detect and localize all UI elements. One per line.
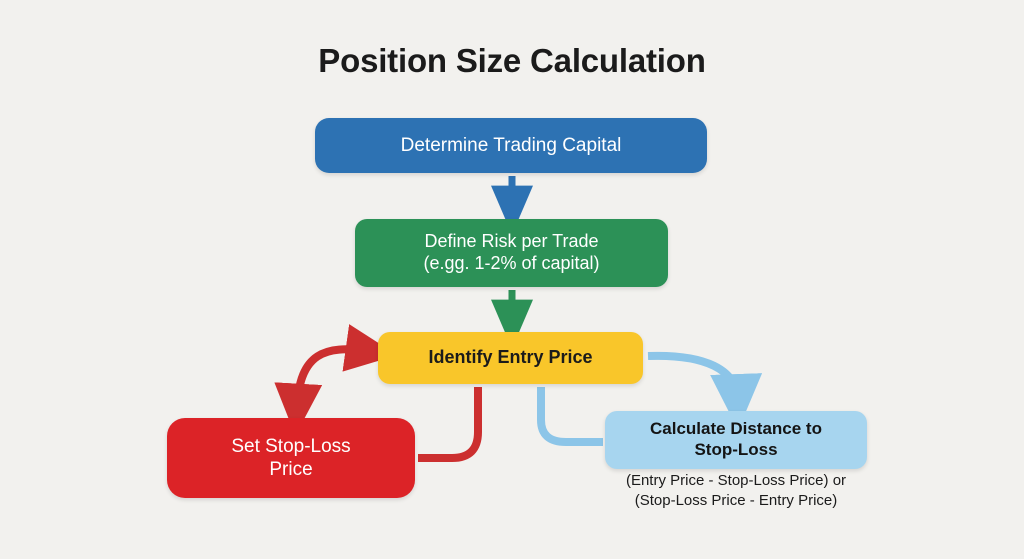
- node-label: Identify Entry Price: [428, 347, 592, 369]
- connector-entry-to-distance-left: [541, 387, 603, 442]
- node-define-risk-per-trade[interactable]: Define Risk per Trade (e.gg. 1-2% of cap…: [355, 219, 668, 287]
- node-calculate-distance-to-stop-loss[interactable]: Calculate Distance to Stop-Loss: [605, 411, 867, 469]
- connector-stoploss-to-entry: [297, 349, 368, 406]
- node-label-line1: Calculate Distance to: [650, 419, 822, 440]
- node-label-line2: Stop-Loss: [694, 440, 777, 461]
- formula-line1: (Entry Price - Stop-Loss Price) or: [595, 471, 877, 491]
- page-title: Position Size Calculation: [0, 42, 1024, 80]
- node-determine-trading-capital[interactable]: Determine Trading Capital: [315, 118, 707, 173]
- connector-entry-to-distance-right: [648, 356, 737, 398]
- diagram-canvas: Position Size Calculation: [0, 0, 1024, 559]
- node-identify-entry-price[interactable]: Identify Entry Price: [378, 332, 643, 384]
- node-label-line1: Define Risk per Trade: [424, 231, 598, 253]
- node-set-stop-loss-price[interactable]: Set Stop-Loss Price: [167, 418, 415, 498]
- node-label-line2: (e.gg. 1-2% of capital): [423, 253, 599, 275]
- node-label: Determine Trading Capital: [401, 134, 622, 157]
- node-label-line2: Price: [269, 458, 312, 481]
- connector-entry-to-stoploss: [418, 387, 478, 458]
- formula-line2: (Stop-Loss Price - Entry Price): [595, 491, 877, 511]
- node-label-line1: Set Stop-Loss: [231, 435, 350, 458]
- distance-formula-caption: (Entry Price - Stop-Loss Price) or (Stop…: [595, 471, 877, 511]
